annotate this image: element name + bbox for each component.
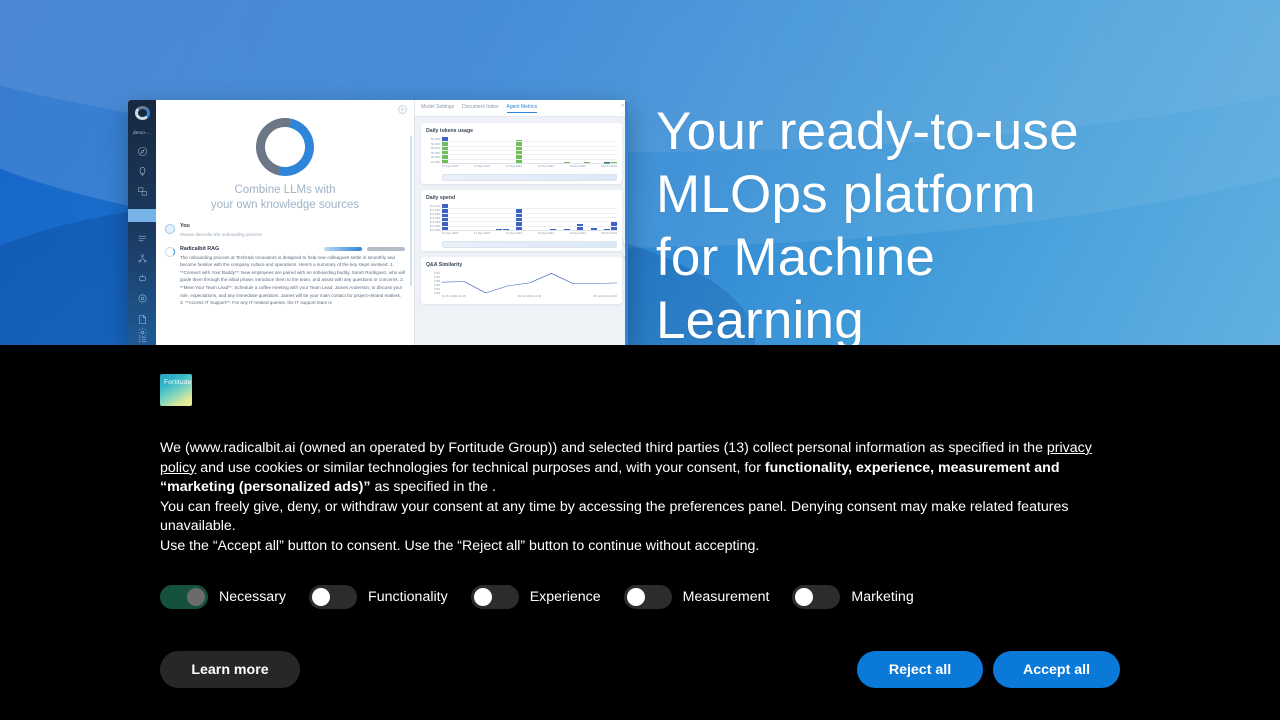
accept-all-button[interactable]: Accept all — [993, 651, 1120, 688]
product-screenshot: demo-... — [128, 100, 628, 345]
cookie-consent-banner: Fortitude We (www.radicalbit.ai (owned a… — [0, 345, 1280, 720]
consent-text-part-3: as specified in the . — [371, 479, 496, 495]
tab-document-index[interactable]: Document Index — [462, 104, 498, 112]
message-meta-pills — [324, 247, 405, 251]
consent-toggle-marketing[interactable]: Marketing — [792, 585, 913, 609]
assistant-avatar — [165, 247, 175, 257]
toggle-knob — [474, 588, 492, 606]
chart-card-similarity: Q&A Similarity 0.920.900.880.860.840.80 … — [421, 257, 622, 304]
fortitude-logo: Fortitude — [160, 374, 192, 406]
workspace-label: demo-... — [133, 130, 151, 135]
page-root: Your ready-to-use MLOps platform for Mac… — [0, 0, 1280, 720]
chart-card-spend: Daily spend $ 0.120$ 0.100$ 0.080$ 0.060… — [421, 190, 622, 251]
toggle-switch[interactable] — [160, 585, 208, 609]
consent-toggle-necessary[interactable]: Necessary — [160, 585, 286, 609]
app-logo-icon — [135, 106, 150, 120]
pane-resize-handle[interactable] — [625, 100, 628, 345]
metrics-pane: Model Settings Document Index Agent Metr… — [414, 100, 628, 345]
consent-toggle-functionality[interactable]: Functionality — [309, 585, 448, 609]
message-text: Please describe the onboarding process — [180, 231, 405, 239]
plot-area — [442, 137, 617, 164]
lightbulb-icon[interactable] — [136, 166, 149, 177]
cookie-paragraph-1: We (www.radicalbit.ai (owned an operated… — [160, 439, 1120, 498]
chat-message-user: You Please describe the onboarding proce… — [165, 223, 405, 239]
tab-agent-metrics[interactable]: Agent Metrics — [507, 104, 538, 113]
consent-text-part-2: and use cookies or similar technologies … — [196, 460, 765, 476]
chart-title: Q&A Similarity — [426, 262, 617, 268]
cookie-paragraph-2: You can freely give, deny, or withdraw y… — [160, 498, 1120, 537]
sidebar-active-indicator[interactable] — [128, 209, 156, 222]
y-axis-ticks: 60.00050.00040.00030.00020.00010.000 — [426, 137, 442, 164]
toggle-knob — [312, 588, 330, 606]
agent-icon[interactable] — [136, 273, 149, 284]
consent-toggle-experience[interactable]: Experience — [471, 585, 601, 609]
consent-toggle-measurement[interactable]: Measurement — [624, 585, 770, 609]
x-axis-ticks: 01 Oct 2024 11:4509 Oct 2024 12:4028 Oct… — [442, 294, 617, 301]
x-axis-ticks: 10 Sep 202411 Sep 202412 Sep 202413 Sep … — [442, 164, 617, 171]
hero-section: Your ready-to-use MLOps platform for Mac… — [0, 0, 1280, 345]
toggle-knob — [627, 588, 645, 606]
chat-message-assistant: Radicalbit RAG The onboarding process at… — [165, 246, 405, 307]
tab-model-settings[interactable]: Model Settings — [421, 104, 454, 112]
chart-range-slider[interactable] — [442, 241, 617, 248]
cookie-actions: Learn more Reject all Accept all — [160, 651, 1120, 688]
app-sidebar-rail: demo-... — [128, 100, 156, 345]
radicalbit-ring-logo — [245, 107, 325, 187]
consent-toggle-group: Necessary Functionality Experience Measu… — [160, 585, 1120, 609]
metrics-tabs: Model Settings Document Index Agent Metr… — [415, 100, 628, 117]
page-title: Your ready-to-use MLOps platform for Mac… — [656, 100, 1256, 345]
plot-area — [442, 271, 617, 294]
reject-all-button[interactable]: Reject all — [857, 651, 983, 688]
chat-tagline: Combine LLMs with your own knowledge sou… — [165, 183, 405, 213]
x-axis-ticks: 10 Sep 202411 Sep 202412 Sep 202413 Sep … — [442, 231, 617, 238]
model-pill — [367, 247, 405, 251]
app-body: ↻ Combine LLMs with your own knowledge s… — [156, 100, 628, 345]
message-text: The onboarding process at TechHub Innova… — [180, 254, 405, 307]
toggle-label: Experience — [530, 589, 601, 605]
chat-scrollbar[interactable] — [410, 136, 412, 286]
fortitude-logo-label: Fortitude — [164, 379, 191, 386]
user-avatar — [165, 224, 175, 234]
toggle-switch[interactable] — [792, 585, 840, 609]
toggle-switch[interactable] — [309, 585, 357, 609]
y-axis-ticks: 0.920.900.880.860.840.80 — [426, 271, 442, 294]
score-pill — [324, 247, 362, 251]
history-icon[interactable]: ↻ — [398, 105, 407, 114]
chart-card-tokens: Daily tokens usage 60.00050.00040.00030.… — [421, 123, 622, 184]
toggle-label: Measurement — [683, 589, 770, 605]
y-axis-ticks: $ 0.120$ 0.100$ 0.080$ 0.060$ 0.040$ 0.0… — [426, 204, 442, 231]
chart-title: Daily spend — [426, 195, 617, 201]
consent-text-part-1: We (www.radicalbit.ai (owned an operated… — [160, 440, 1047, 456]
toggle-switch[interactable] — [624, 585, 672, 609]
chart-title: Daily tokens usage — [426, 128, 617, 134]
cookie-consent-text: We (www.radicalbit.ai (owned an operated… — [160, 439, 1120, 557]
model-icon[interactable] — [136, 186, 149, 197]
toggle-label: Necessary — [219, 589, 286, 605]
message-author: Radicalbit RAG — [180, 246, 219, 252]
gear-circle-icon[interactable] — [136, 293, 149, 304]
toggle-switch[interactable] — [471, 585, 519, 609]
document-icon[interactable] — [136, 314, 149, 325]
toggle-knob — [187, 588, 205, 606]
toggle-label: Functionality — [368, 589, 448, 605]
pipeline-icon[interactable] — [136, 253, 149, 264]
chart-plot: 60.00050.00040.00030.00020.00010.000 10 … — [426, 137, 617, 171]
settings-icon[interactable] — [136, 326, 149, 339]
chart-range-slider[interactable] — [442, 174, 617, 181]
chart-plot: 0.920.900.880.860.840.80 01 Oct 2024 11:… — [426, 271, 617, 301]
chat-pane: ↻ Combine LLMs with your own knowledge s… — [156, 100, 414, 345]
toggle-label: Marketing — [851, 589, 913, 605]
cookie-paragraph-3: Use the “Accept all” button to consent. … — [160, 537, 1120, 557]
chart-plot: $ 0.120$ 0.100$ 0.080$ 0.060$ 0.040$ 0.0… — [426, 204, 617, 238]
message-author: You — [180, 223, 190, 229]
plot-area — [442, 204, 617, 231]
toggle-knob — [795, 588, 813, 606]
close-icon[interactable]: × — [621, 103, 624, 109]
compass-icon[interactable] — [136, 146, 149, 157]
more-icon[interactable]: ⋯ — [619, 111, 624, 117]
learn-more-button[interactable]: Learn more — [160, 651, 300, 688]
list-icon[interactable] — [136, 233, 149, 244]
